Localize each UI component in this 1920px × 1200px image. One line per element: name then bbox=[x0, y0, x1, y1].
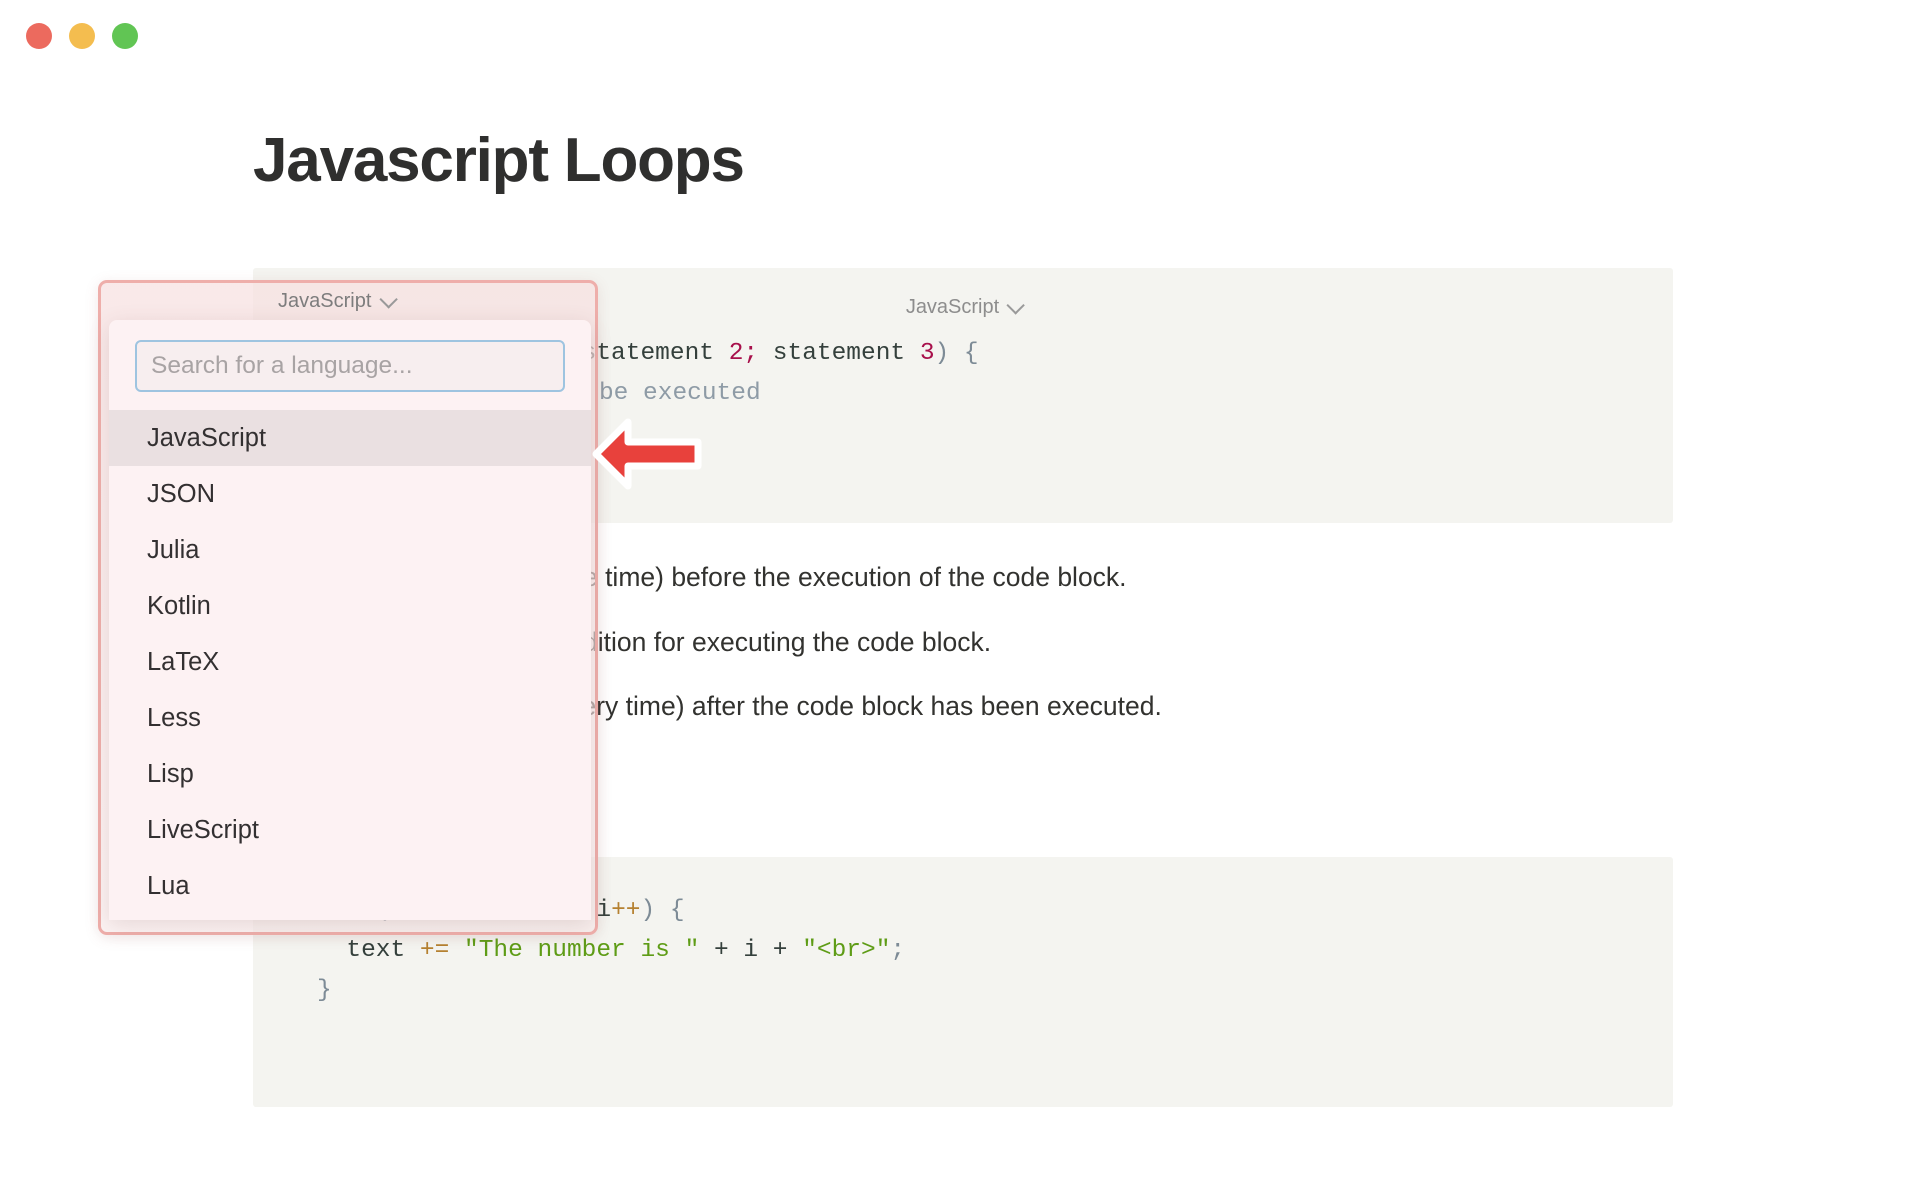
window-title-bar bbox=[0, 0, 1920, 72]
code-token-operator: + bbox=[758, 937, 802, 964]
code-token-string: "<br>" bbox=[802, 937, 890, 964]
minimize-window-button[interactable] bbox=[69, 23, 95, 49]
code-token-string: "The number is " bbox=[464, 937, 699, 964]
page-title: Javascript Loops bbox=[253, 125, 744, 196]
code-token-ident: statement bbox=[773, 340, 920, 367]
language-option-less[interactable]: Less bbox=[109, 690, 591, 746]
code-block-1-language-label: JavaScript bbox=[906, 287, 999, 327]
language-option-julia[interactable]: Julia bbox=[109, 522, 591, 578]
language-option-lisp[interactable]: Lisp bbox=[109, 746, 591, 802]
arrow-left-icon bbox=[592, 418, 704, 490]
code-token-ident: i bbox=[743, 937, 758, 964]
code-line: text += "The number is " + i + "<br>"; bbox=[253, 931, 1673, 971]
code-token-punc: } bbox=[317, 977, 332, 1004]
code-token-ident: i bbox=[596, 897, 611, 924]
language-option-json[interactable]: JSON bbox=[109, 466, 591, 522]
chevron-down-icon bbox=[1007, 296, 1025, 314]
language-option-javascript[interactable]: JavaScript bbox=[109, 410, 591, 466]
code-token-operator: + bbox=[699, 937, 743, 964]
highlighted-language-label: JavaScript bbox=[278, 290, 371, 313]
language-search-input[interactable] bbox=[135, 340, 565, 392]
language-dropdown-panel: JavaScript JSON Julia Kotlin LaTeX Less … bbox=[109, 320, 591, 920]
language-option-lua[interactable]: Lua bbox=[109, 858, 591, 914]
code-token-operator: ++ bbox=[611, 897, 640, 924]
code-token-punc: ) { bbox=[935, 340, 979, 367]
code-token-punc: ) { bbox=[640, 897, 684, 924]
language-option-list: JavaScript JSON Julia Kotlin LaTeX Less … bbox=[109, 406, 591, 914]
code-token-number: 3 bbox=[920, 340, 935, 367]
code-token-punc: ; bbox=[743, 340, 772, 367]
highlighted-language-selector[interactable]: JavaScript bbox=[278, 290, 393, 313]
search-container bbox=[109, 320, 591, 406]
language-option-livescript[interactable]: LiveScript bbox=[109, 802, 591, 858]
code-token-ident: statement bbox=[582, 340, 729, 367]
language-option-latex[interactable]: LaTeX bbox=[109, 634, 591, 690]
maximize-window-button[interactable] bbox=[112, 23, 138, 49]
language-option-kotlin[interactable]: Kotlin bbox=[109, 578, 591, 634]
code-token-operator: += bbox=[420, 937, 464, 964]
code-token-ident: text bbox=[317, 937, 420, 964]
code-token-number: 2 bbox=[729, 340, 744, 367]
code-token-punc: ; bbox=[890, 937, 905, 964]
close-window-button[interactable] bbox=[26, 23, 52, 49]
code-line: } bbox=[253, 971, 1673, 1011]
